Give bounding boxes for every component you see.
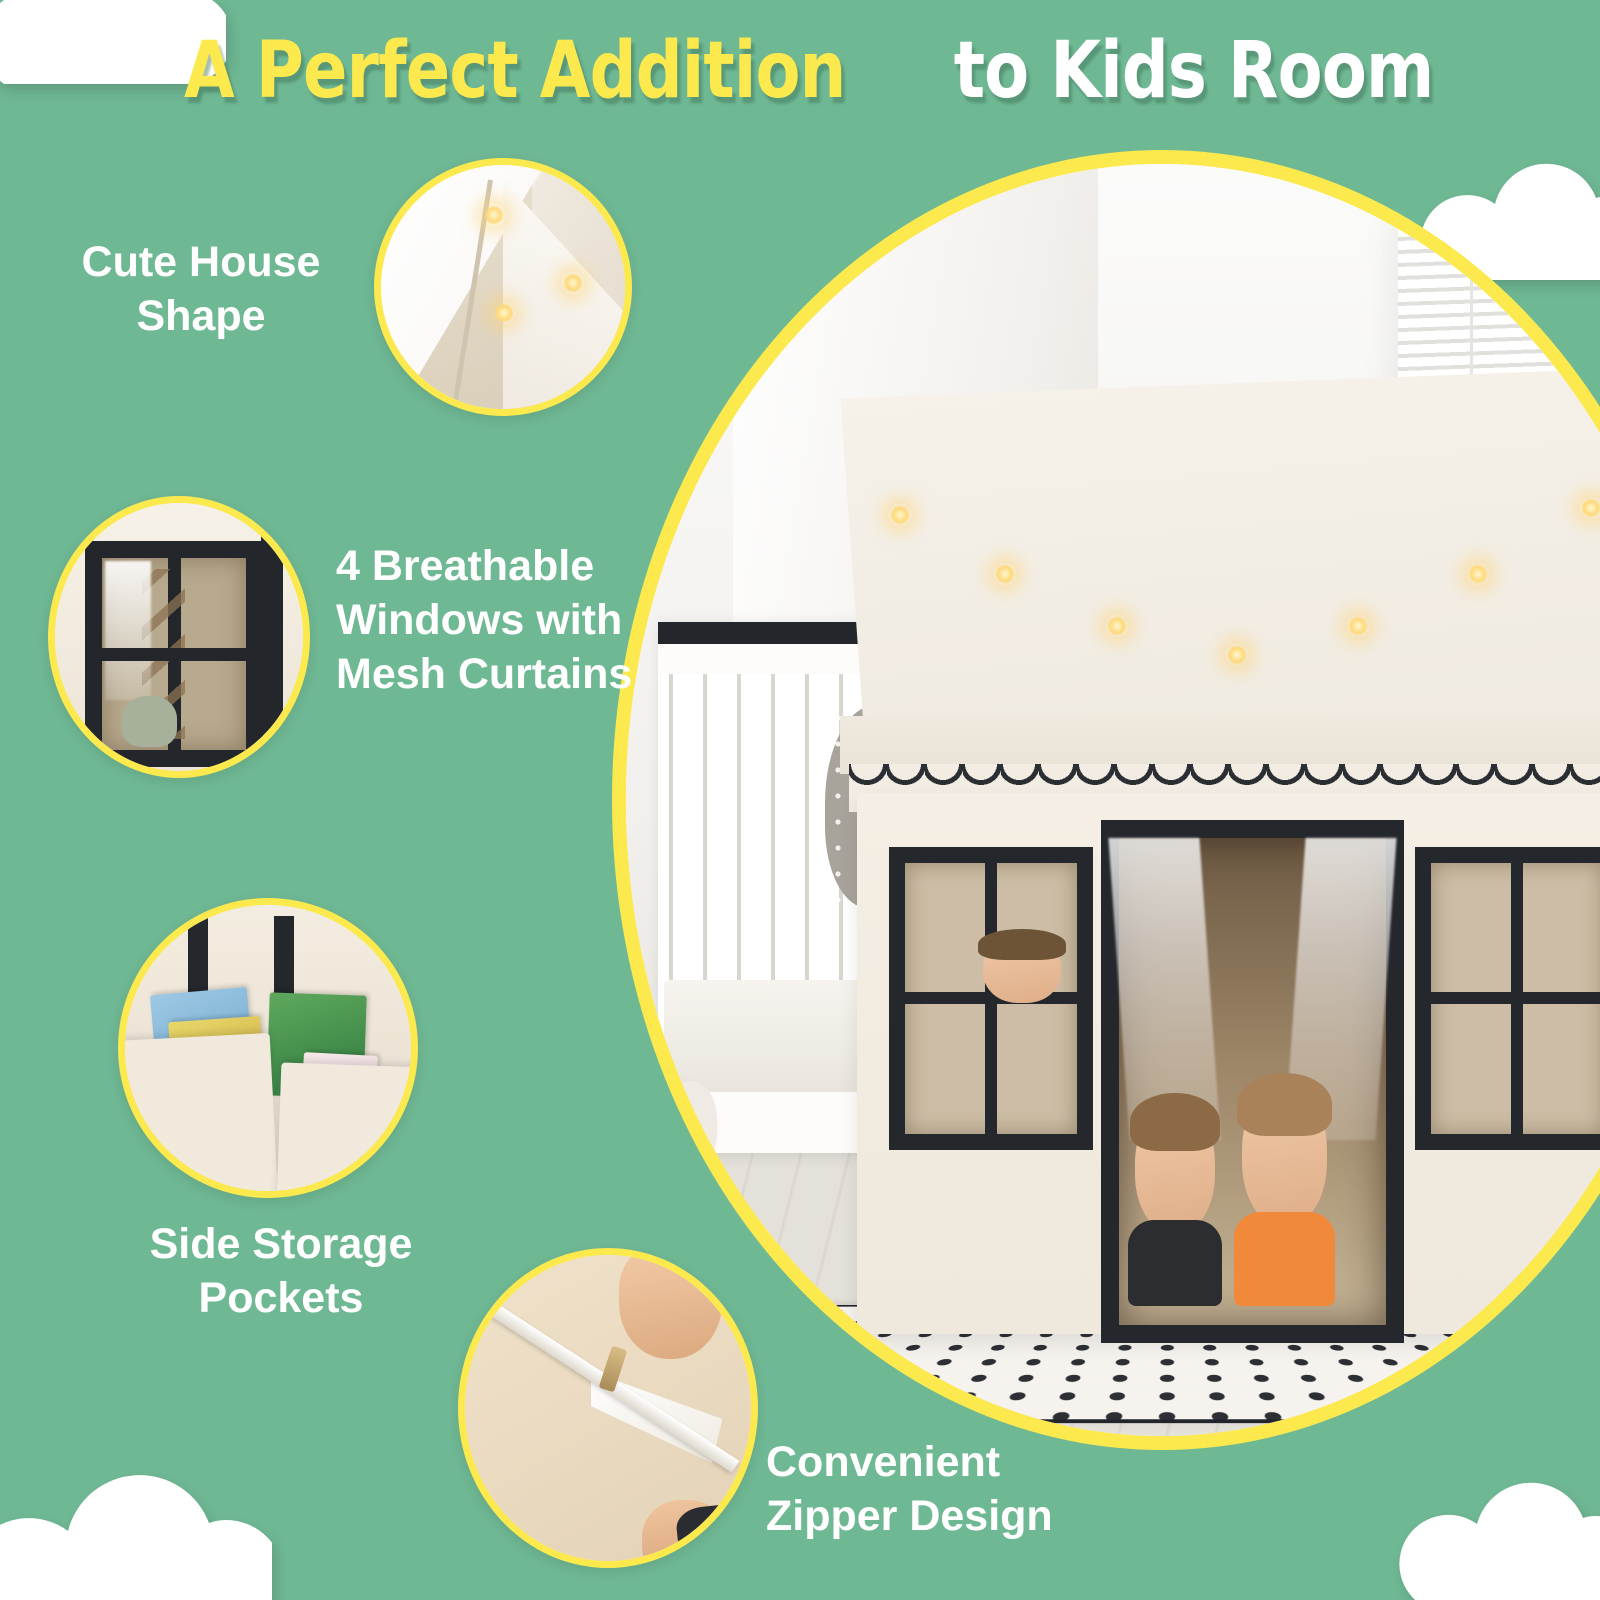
tent-black-edge [261,513,283,761]
caption-convenient-zipper: Convenient Zipper Design [766,1436,1166,1544]
plush-toy [122,696,177,746]
feature-image-4-clip [465,1255,751,1561]
tent-body [857,793,1600,1334]
child-right [1242,1082,1328,1306]
child-center [1135,1101,1215,1306]
caption-side-storage-pockets: Side Storage Pockets [96,1218,466,1326]
pocket-front-right [277,1063,411,1191]
bulb-icon [493,302,515,324]
cloud-bottom-right-icon [1384,1474,1600,1600]
caption-breathable-windows: 4 Breathable Windows with Mesh Curtains [336,540,676,701]
hero-product-photo [612,150,1600,1450]
feature-image-side-storage-pockets [118,898,418,1198]
tent-roof [840,368,1600,755]
pocket-front-left [125,1032,278,1191]
mesh-curtain [105,561,151,700]
pocket-strap [274,916,294,1002]
feature-image-2-clip [55,503,303,771]
nursery-scene [626,164,1600,1436]
feature-image-breathable-windows [48,496,310,778]
playhouse-tent [840,368,1600,1335]
title-highlight: A Perfect Addition [184,26,845,116]
hero-photo-clip [626,164,1600,1436]
feature-image-3-clip [125,905,411,1191]
page-title: A Perfect Addition to Kids Room [0,26,1600,116]
cloud-bottom-left-icon [0,1456,272,1600]
mesh-window [85,541,263,768]
tent-window-right [1415,847,1600,1150]
feature-image-cute-house-shape [374,158,632,416]
feature-image-convenient-zipper [458,1248,758,1568]
child-in-window [983,934,1062,1042]
bunny-plush [664,1081,717,1167]
feature-image-1-clip [381,165,625,409]
bulb-icon [562,272,584,294]
infographic-canvas: A Perfect Addition to Kids Room [0,0,1600,1600]
title-rest: to Kids Room [954,26,1434,116]
caption-cute-house-shape: Cute House Shape [36,236,366,344]
pocket-strap [188,916,208,1002]
tent-doorway [1101,820,1404,1343]
